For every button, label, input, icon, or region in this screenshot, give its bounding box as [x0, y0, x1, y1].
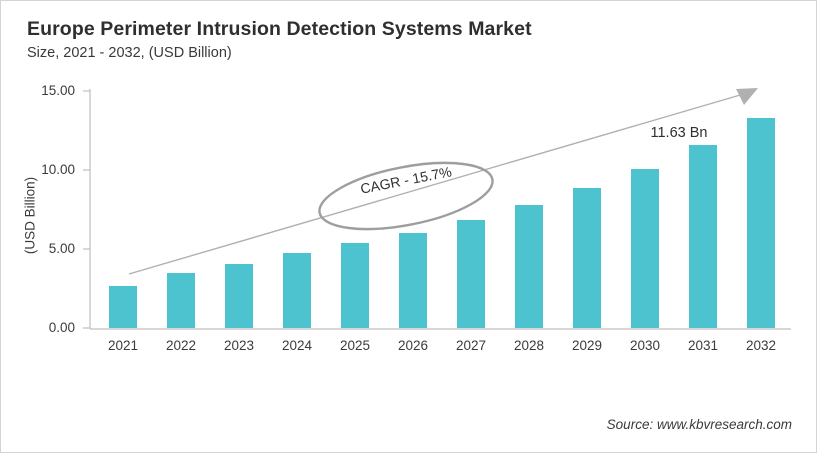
x-tick-label-2026: 2026: [385, 338, 441, 353]
x-tick-label-2021: 2021: [95, 338, 151, 353]
trend-arrow-icon: [129, 88, 758, 274]
bar-2025: [341, 243, 369, 328]
bar-2031: [689, 145, 717, 328]
bar-2032: [747, 118, 775, 328]
chart-screenshot: Europe Perimeter Intrusion Detection Sys…: [0, 0, 817, 453]
data-label-2031: 11.63 Bn: [614, 125, 744, 141]
y-tick-label: 0.00: [19, 320, 75, 335]
bar-2030: [631, 169, 659, 328]
x-tick-label-2029: 2029: [559, 338, 615, 353]
source-note: Source: www.kbvresearch.com: [607, 417, 792, 432]
x-tick-label-2025: 2025: [327, 338, 383, 353]
y-axis-ticks: [83, 91, 90, 328]
y-axis-title: (USD Billion): [23, 146, 38, 286]
bar-2028: [515, 205, 543, 328]
bar-2021: [109, 286, 137, 328]
x-tick-label-2032: 2032: [733, 338, 789, 353]
x-tick-label-2022: 2022: [153, 338, 209, 353]
bar-2022: [167, 273, 195, 328]
x-tick-label-2030: 2030: [617, 338, 673, 353]
x-tick-label-2031: 2031: [675, 338, 731, 353]
bar-2023: [225, 264, 253, 328]
x-tick-label-2027: 2027: [443, 338, 499, 353]
x-tick-label-2028: 2028: [501, 338, 557, 353]
bar-2026: [399, 233, 427, 328]
plot-area: 15.00 10.00 5.00 0.00 (USD Billion) 2021…: [1, 1, 817, 453]
y-tick-label: 15.00: [19, 83, 75, 98]
x-tick-label-2024: 2024: [269, 338, 325, 353]
bar-2024: [283, 253, 311, 328]
x-tick-label-2023: 2023: [211, 338, 267, 353]
bar-2029: [573, 188, 601, 328]
bar-2027: [457, 220, 485, 328]
